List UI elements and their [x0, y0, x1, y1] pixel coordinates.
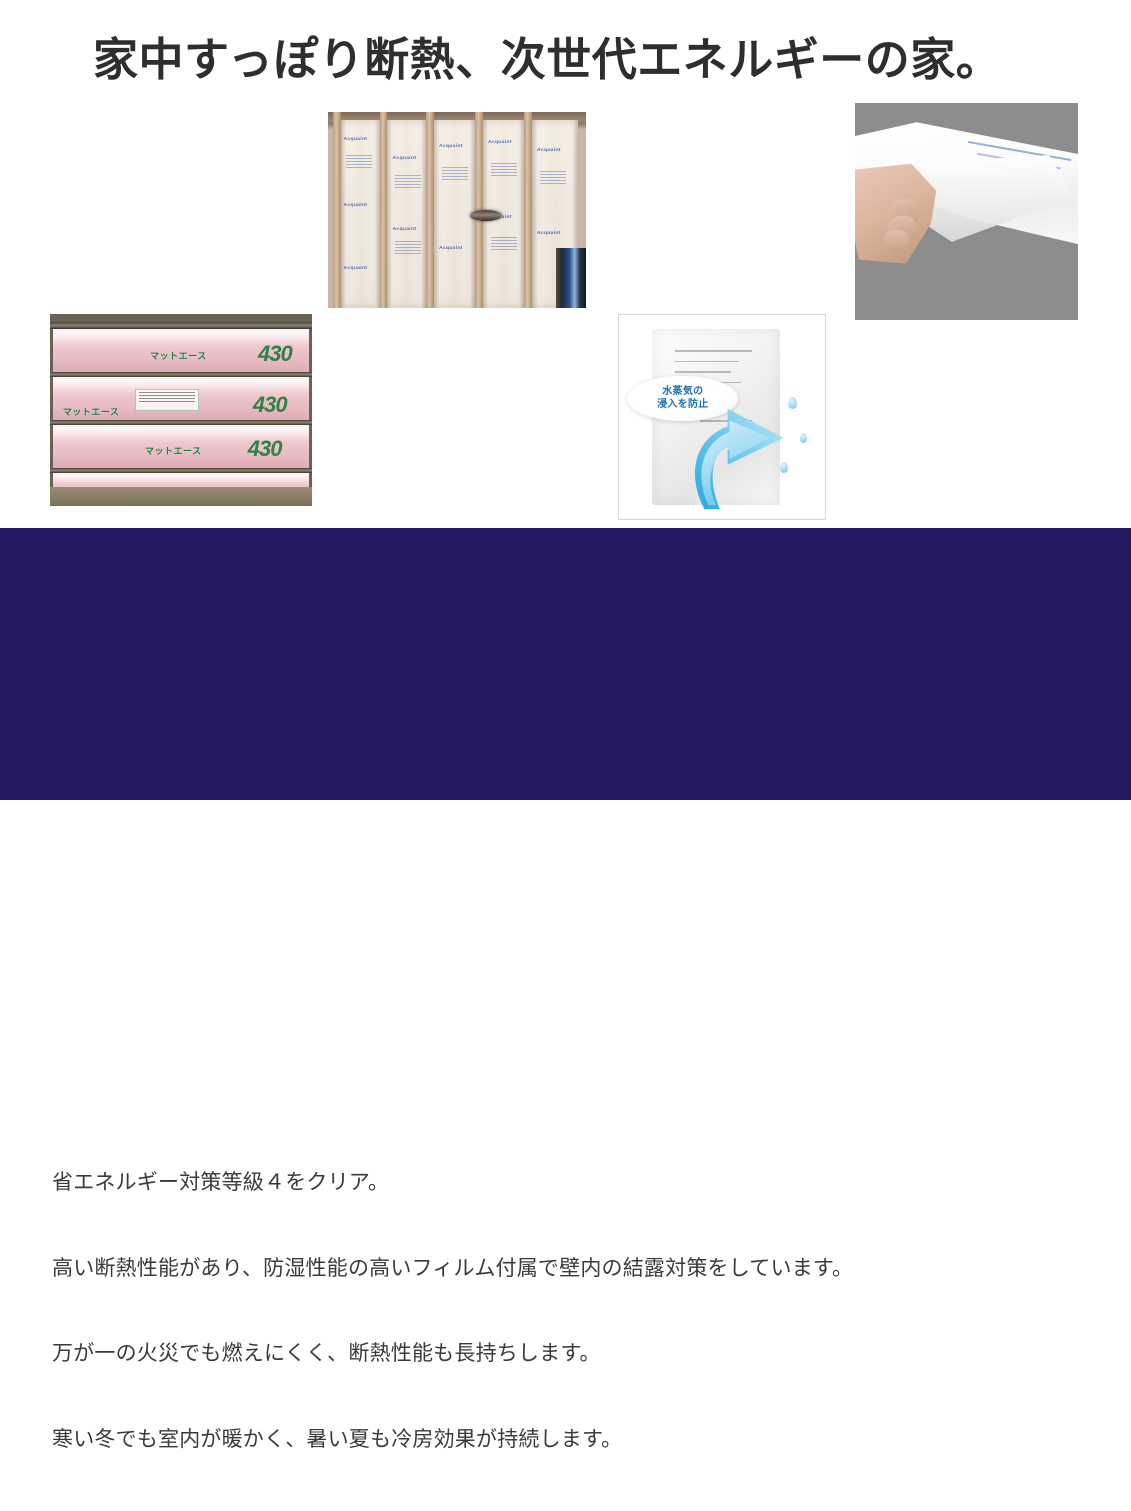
vapor-callout-line-1: 水蒸気の	[662, 386, 703, 399]
wall-stud	[426, 112, 434, 308]
shelf-rail	[50, 468, 312, 473]
photo-hand-holding-film	[855, 103, 1078, 320]
photo-insulated-wall: Acquaint Acquaint Acquaint Acquaint Acqu…	[328, 112, 586, 308]
batt-brand-print: Acquaint	[488, 140, 512, 145]
info-line-4: 寒い冬でも室内が暖かく、暑い夏も冷房効果が持続します。	[52, 1426, 853, 1455]
batt-brand-print: Acquaint	[439, 246, 463, 251]
package-note	[135, 389, 199, 411]
photo-stacked-packages: マットエース 430 マットエース 430 マットエース 430	[50, 314, 312, 506]
page-title: 家中すっぽり断熱、次世代エネルギーの家。	[93, 34, 1001, 86]
batt-brand-print: Acquaint	[439, 144, 463, 149]
insulated-wall-scene: Acquaint Acquaint Acquaint Acquaint Acqu…	[328, 112, 586, 308]
batt-brand-print: Acquaint	[537, 148, 561, 153]
wall-stud	[524, 112, 532, 308]
package-row: マットエース 430	[53, 329, 310, 375]
package-row: マットエース 430	[53, 425, 310, 471]
finger	[883, 230, 909, 254]
wall-vent-opening	[470, 210, 502, 221]
info-line-3: 万が一の火災でも燃えにくく、断熱性能も長持ちします。	[52, 1340, 853, 1369]
batt-label-block	[395, 175, 421, 189]
package-sheen	[53, 475, 310, 483]
footer-banner: 省エネルギー対策等級４をクリア。 高い断熱性能があり、防湿性能の高いフィルム付属…	[0, 528, 1131, 800]
info-card: 省エネルギー対策等級４をクリア。 高い断熱性能があり、防湿性能の高いフィルム付属…	[33, 1090, 1103, 1290]
window-edge	[556, 248, 586, 308]
batt-brand-print: Acquaint	[343, 265, 367, 270]
photo-vapor-barrier-diagram: 水蒸気の 浸入を防止	[618, 314, 826, 520]
batt-label-block	[540, 171, 566, 185]
batt-label-block	[491, 163, 517, 177]
shelf-rail	[50, 322, 312, 329]
batt-brand-print: Acquaint	[393, 226, 417, 231]
shelf-rail	[50, 372, 312, 377]
bag-print-line	[675, 361, 739, 363]
batt-label-block	[346, 155, 372, 169]
batt-brand-print: Acquaint	[343, 202, 367, 207]
batt-label-block	[442, 167, 468, 181]
insulation-batt	[387, 120, 426, 308]
insulation-batt	[341, 120, 380, 308]
batt-label-block	[491, 237, 517, 251]
batt-brand-print: Acquaint	[343, 136, 367, 141]
info-card-text: 省エネルギー対策等級４をクリア。 高い断熱性能があり、防湿性能の高いフィルム付属…	[52, 1112, 853, 1511]
floor-strip	[50, 487, 312, 506]
package-brand-label: マットエース	[145, 444, 202, 457]
bag-print-line	[675, 371, 731, 373]
package-product-number: 430	[248, 436, 282, 462]
package-row: マットエース 430	[53, 377, 310, 423]
package-brand-label: マットエース	[63, 405, 120, 418]
batt-brand-print: Acquaint	[537, 230, 561, 235]
info-line-2: 高い断熱性能があり、防湿性能の高いフィルム付属で壁内の結露対策をしています。	[52, 1255, 853, 1284]
vapor-deflection-arrow	[677, 405, 813, 511]
package-product-number: 430	[258, 341, 292, 367]
shelf-rail	[50, 420, 312, 425]
package-product-number: 430	[253, 392, 287, 418]
package-brand-label: マットエース	[150, 349, 207, 362]
info-line-1: 省エネルギー対策等級４をクリア。	[52, 1169, 853, 1198]
batt-brand-print: Acquaint	[393, 155, 417, 160]
water-droplet	[780, 462, 788, 473]
batt-label-block	[395, 241, 421, 255]
wall-stud	[380, 112, 388, 308]
bag-print-line	[675, 350, 752, 352]
water-droplet	[788, 397, 797, 409]
wall-stud	[333, 112, 341, 308]
